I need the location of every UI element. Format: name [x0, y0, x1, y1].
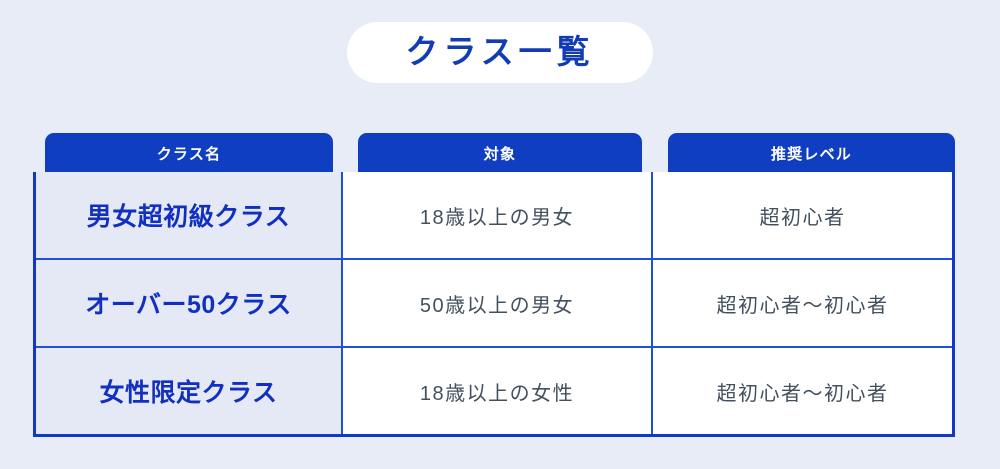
table-row: オーバー50クラス 50歳以上の男女 超初心者〜初心者	[36, 260, 952, 348]
cell-level: 超初心者	[653, 172, 952, 258]
header-gap-1	[333, 133, 358, 174]
cell-target: 18歳以上の女性	[343, 348, 653, 434]
table-row: 男女超初級クラス 18歳以上の男女 超初心者	[36, 172, 952, 260]
class-list-page: クラス一覧 クラス名 対象 推奨レベル 男女超初級クラス 18歳以上の男女 超初…	[0, 0, 1000, 469]
cell-level: 超初心者〜初心者	[653, 260, 952, 346]
table-header-level: 推奨レベル	[668, 133, 955, 174]
cell-target: 50歳以上の男女	[343, 260, 653, 346]
cell-class-name: オーバー50クラス	[36, 260, 343, 346]
page-title: クラス一覧	[405, 35, 594, 68]
table-header-class-name: クラス名	[45, 133, 333, 174]
cell-class-name: 男女超初級クラス	[36, 172, 343, 258]
header-gap-2	[642, 133, 668, 174]
table-header-row: クラス名 対象 推奨レベル	[33, 133, 955, 174]
cell-level: 超初心者〜初心者	[653, 348, 952, 434]
table-body: 男女超初級クラス 18歳以上の男女 超初心者 オーバー50クラス 50歳以上の男…	[33, 172, 955, 437]
page-title-container: クラス一覧	[0, 22, 1000, 83]
page-title-pill: クラス一覧	[347, 22, 652, 83]
table-row: 女性限定クラス 18歳以上の女性 超初心者〜初心者	[36, 348, 952, 434]
cell-target: 18歳以上の男女	[343, 172, 653, 258]
cell-class-name: 女性限定クラス	[36, 348, 343, 434]
table-header-target: 対象	[358, 133, 642, 174]
